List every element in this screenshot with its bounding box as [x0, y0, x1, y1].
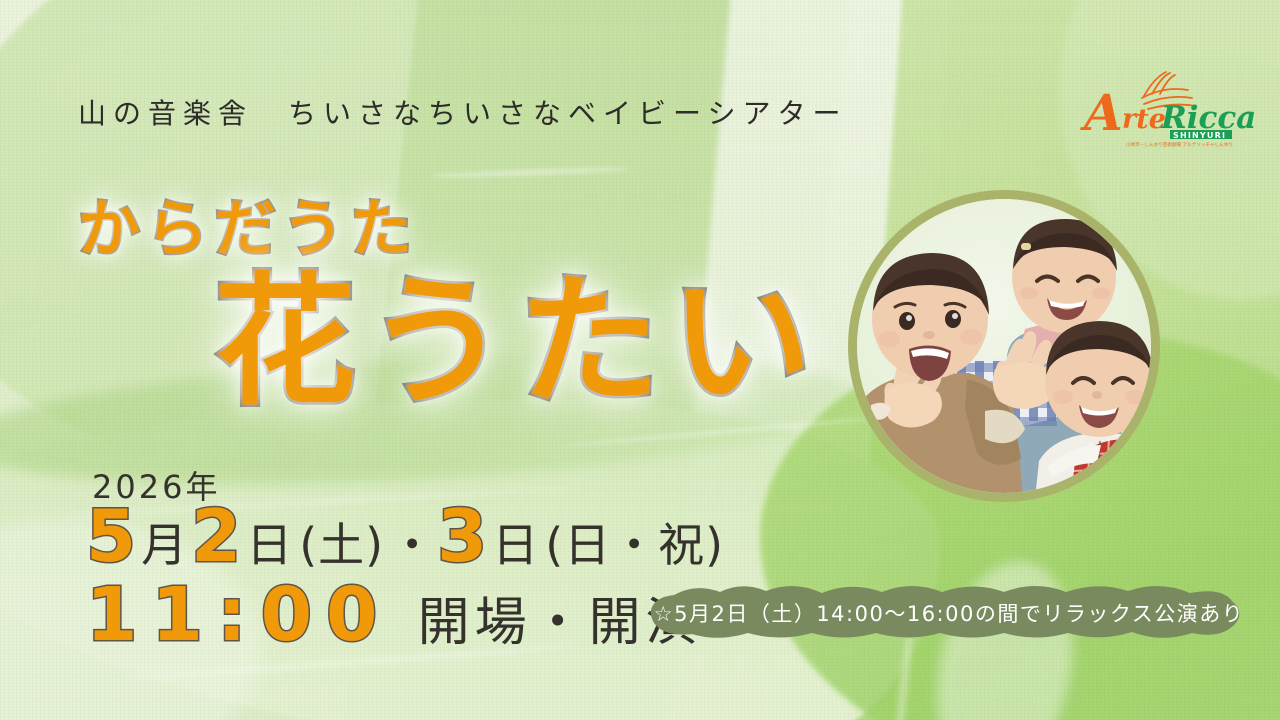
photo-image	[857, 199, 1151, 493]
date-day2-weekday: (日・祝)	[542, 522, 727, 568]
artericca-logo: A rte Ricca SHINYURI 川崎市・しんゆり芸術劇場 アルテリッチ…	[1078, 62, 1256, 148]
relax-performance-banner: ☆5月2日（土）14:00〜16:00の間でリラックス公演あり	[646, 585, 1252, 641]
date-day1-number: 2	[191, 500, 243, 572]
page-title: 花うたい	[214, 272, 822, 414]
date-day1-kanji: 日	[243, 522, 296, 568]
poster-canvas: 山の音楽舎 ちいさなちいさなベイビーシアター からだうた 花うたい 2026年 …	[0, 0, 1280, 720]
date-day1-weekday: (土)	[296, 522, 387, 568]
title-small: からだうた	[78, 178, 418, 268]
event-date: 5 月 2 日 (土) ・ 3 日 (日・祝)	[86, 500, 727, 572]
svg-text:SHINYURI: SHINYURI	[1173, 131, 1226, 140]
date-separator: ・	[387, 522, 437, 568]
date-day2-number: 3	[437, 500, 489, 572]
organizer-line: 山の音楽舎 ちいさなちいさなベイビーシアター	[78, 92, 847, 132]
date-month-kanji: 月	[138, 522, 191, 568]
date-month-number: 5	[86, 500, 138, 572]
relax-banner-text: ☆5月2日（土）14:00〜16:00の間でリラックス公演あり	[646, 585, 1252, 641]
svg-text:川崎市・しんゆり芸術劇場 アルテリッチャしんゆり: 川崎市・しんゆり芸術劇場 アルテリッチャしんゆり	[1126, 141, 1233, 148]
time-value: 11:00	[86, 578, 392, 652]
brush-streak	[430, 167, 630, 179]
photo-circle	[848, 190, 1160, 502]
svg-text:A: A	[1080, 83, 1123, 142]
event-time: 11:00 開場・開演	[86, 578, 703, 652]
date-day2-kanji: 日	[489, 522, 542, 568]
svg-text:rte: rte	[1122, 104, 1166, 135]
